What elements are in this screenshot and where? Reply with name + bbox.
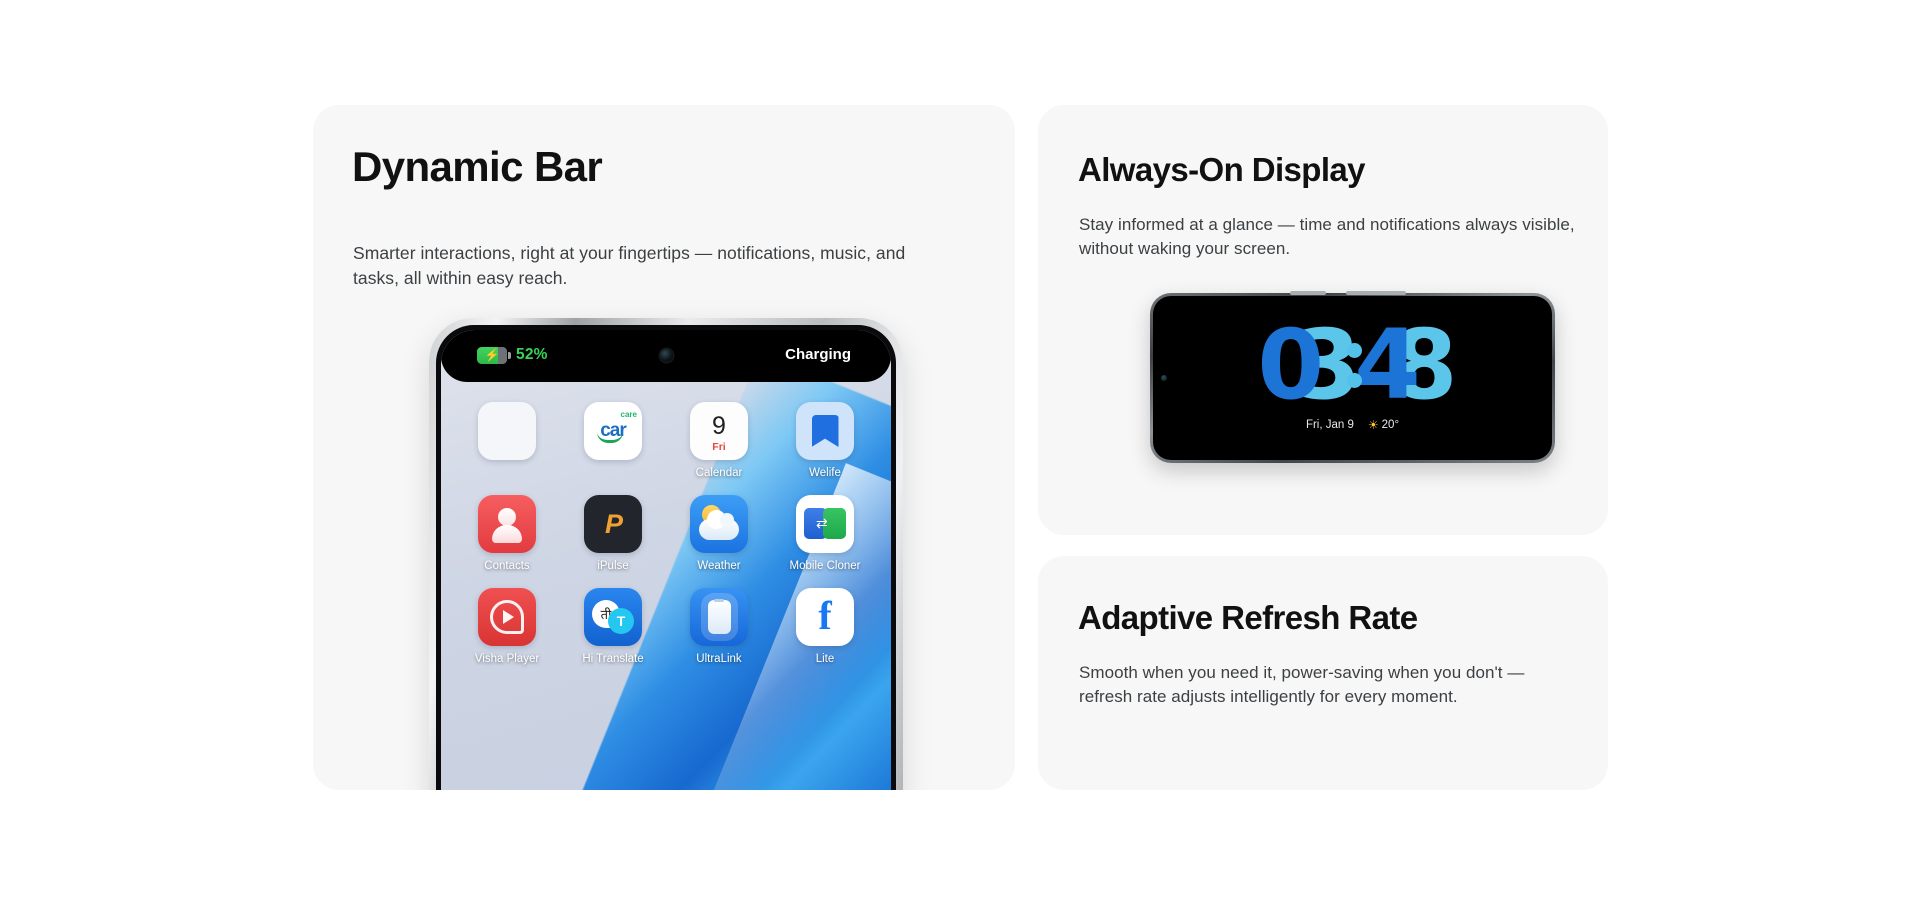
card-description-always-on-display: Stay informed at a glance — time and not… xyxy=(1079,213,1584,261)
bookmark-glyph xyxy=(812,415,839,447)
calendar-weekday: Fri xyxy=(712,441,725,453)
app-item-facebook-lite[interactable]: f Lite xyxy=(777,588,873,665)
app-item-welife[interactable]: Welife xyxy=(777,402,873,479)
calendar-day-number: 9 xyxy=(712,414,726,439)
phone-glyph xyxy=(708,600,731,634)
app-item-carcare[interactable]: car care xyxy=(565,402,661,479)
app-label: iPulse xyxy=(597,560,628,572)
charging-status-label: Charging xyxy=(785,346,851,363)
app-label: UltraLink xyxy=(696,653,741,665)
card-description-adaptive-refresh-rate: Smooth when you need it, power-saving wh… xyxy=(1079,661,1574,709)
carcare-badge: care xyxy=(621,410,637,419)
app-label: Calendar xyxy=(696,467,743,479)
person-body-glyph xyxy=(492,525,522,543)
battery-indicator: ⚡ 52% xyxy=(477,346,548,364)
latin-char-glyph: T xyxy=(608,608,634,634)
app-label: Contacts xyxy=(484,560,529,572)
aod-date-label: Fri, Jan 9 xyxy=(1306,419,1354,431)
mobile-cloner-app-icon: ⇄ xyxy=(796,495,854,553)
battery-charging-icon: ⚡ xyxy=(477,347,507,364)
front-camera-icon xyxy=(660,349,673,362)
calendar-app-icon: 9 Fri xyxy=(690,402,748,460)
clock-colon-icon xyxy=(1347,343,1362,388)
app-item-ipulse[interactable]: P iPulse xyxy=(565,495,661,572)
app-item-contacts[interactable]: Contacts xyxy=(459,495,555,572)
transfer-arrow-icon: ⇄ xyxy=(816,515,828,532)
facebook-f-glyph: f xyxy=(818,596,831,636)
app-folder-icon xyxy=(478,402,536,460)
card-description-dynamic-bar: Smarter interactions, right at your fing… xyxy=(353,241,953,291)
weather-app-icon xyxy=(690,495,748,553)
home-screen-app-grid: car care 9 Fri xyxy=(441,402,891,681)
ultralink-app-icon xyxy=(690,588,748,646)
app-label: Hi Translate xyxy=(582,653,643,665)
hi-translate-app-icon: ती T xyxy=(584,588,642,646)
app-item-visha-player[interactable]: Visha Player xyxy=(459,588,555,665)
play-ring-glyph xyxy=(490,600,524,634)
page-root: Dynamic Bar Smarter interactions, right … xyxy=(0,0,1920,900)
app-row: car care 9 Fri xyxy=(459,402,873,479)
card-adaptive-refresh-rate: Adaptive Refresh Rate Smooth when you ne… xyxy=(1038,556,1608,790)
volume-button[interactable] xyxy=(1290,291,1326,295)
always-on-display-screen: 0 3 4 8 Fri, Jan 9 ☀ 20° xyxy=(1153,296,1552,460)
card-title-always-on-display: Always-On Display xyxy=(1078,153,1365,188)
app-item-hi-translate[interactable]: ती T Hi Translate xyxy=(565,588,661,665)
clock-digit-minute-tens: 4 xyxy=(1354,326,1411,405)
aod-meta-row: Fri, Jan 9 ☀ 20° xyxy=(1153,418,1552,432)
app-item-calendar[interactable]: 9 Fri Calendar xyxy=(671,402,767,479)
app-item-weather[interactable]: Weather xyxy=(671,495,767,572)
card-title-dynamic-bar: Dynamic Bar xyxy=(352,145,602,189)
visha-player-app-icon xyxy=(478,588,536,646)
welife-app-icon xyxy=(796,402,854,460)
card-always-on-display: Always-On Display Stay informed at a gla… xyxy=(1038,105,1608,535)
cloud-glyph xyxy=(699,519,739,540)
carcare-app-icon: car care xyxy=(584,402,642,460)
phone-bezel: ⚡ 52% Charging xyxy=(436,325,896,790)
app-label: Lite xyxy=(816,653,835,665)
ipulse-app-icon: P xyxy=(584,495,642,553)
app-row: Contacts P iPulse xyxy=(459,495,873,572)
card-dynamic-bar: Dynamic Bar Smarter interactions, right … xyxy=(313,105,1015,790)
power-button[interactable] xyxy=(1346,291,1406,295)
status-bar: ⚡ 52% Charging xyxy=(441,330,891,382)
clock-digit-hour-tens: 0 xyxy=(1257,326,1314,405)
aod-temperature-label: 20° xyxy=(1382,419,1399,431)
app-item-mobile-cloner[interactable]: ⇄ Mobile Cloner xyxy=(777,495,873,572)
app-label: Welife xyxy=(809,467,841,479)
bolt-glyph: ⚡ xyxy=(485,349,500,361)
app-label: Weather xyxy=(697,560,740,572)
person-head-glyph xyxy=(498,508,516,526)
app-item-ultralink[interactable]: UltraLink xyxy=(671,588,767,665)
aod-clock: 0 3 4 8 xyxy=(1153,322,1552,408)
phone-landscape-mockup: 0 3 4 8 Fri, Jan 9 ☀ 20° xyxy=(1150,293,1555,463)
app-label: Visha Player xyxy=(475,653,539,665)
app-row: Visha Player ती T Hi Translate xyxy=(459,588,873,665)
battery-percent-label: 52% xyxy=(516,346,548,364)
phone-screen: ⚡ 52% Charging xyxy=(441,330,891,790)
app-item-folder[interactable] xyxy=(459,402,555,479)
facebook-lite-app-icon: f xyxy=(796,588,854,646)
play-triangle-glyph xyxy=(503,610,514,624)
phone-portrait-mockup: ⚡ 52% Charging xyxy=(429,318,903,790)
card-title-adaptive-refresh-rate: Adaptive Refresh Rate xyxy=(1078,601,1418,636)
app-label: Mobile Cloner xyxy=(790,560,861,572)
contacts-app-icon xyxy=(478,495,536,553)
ipulse-wordmark: P xyxy=(605,509,621,540)
